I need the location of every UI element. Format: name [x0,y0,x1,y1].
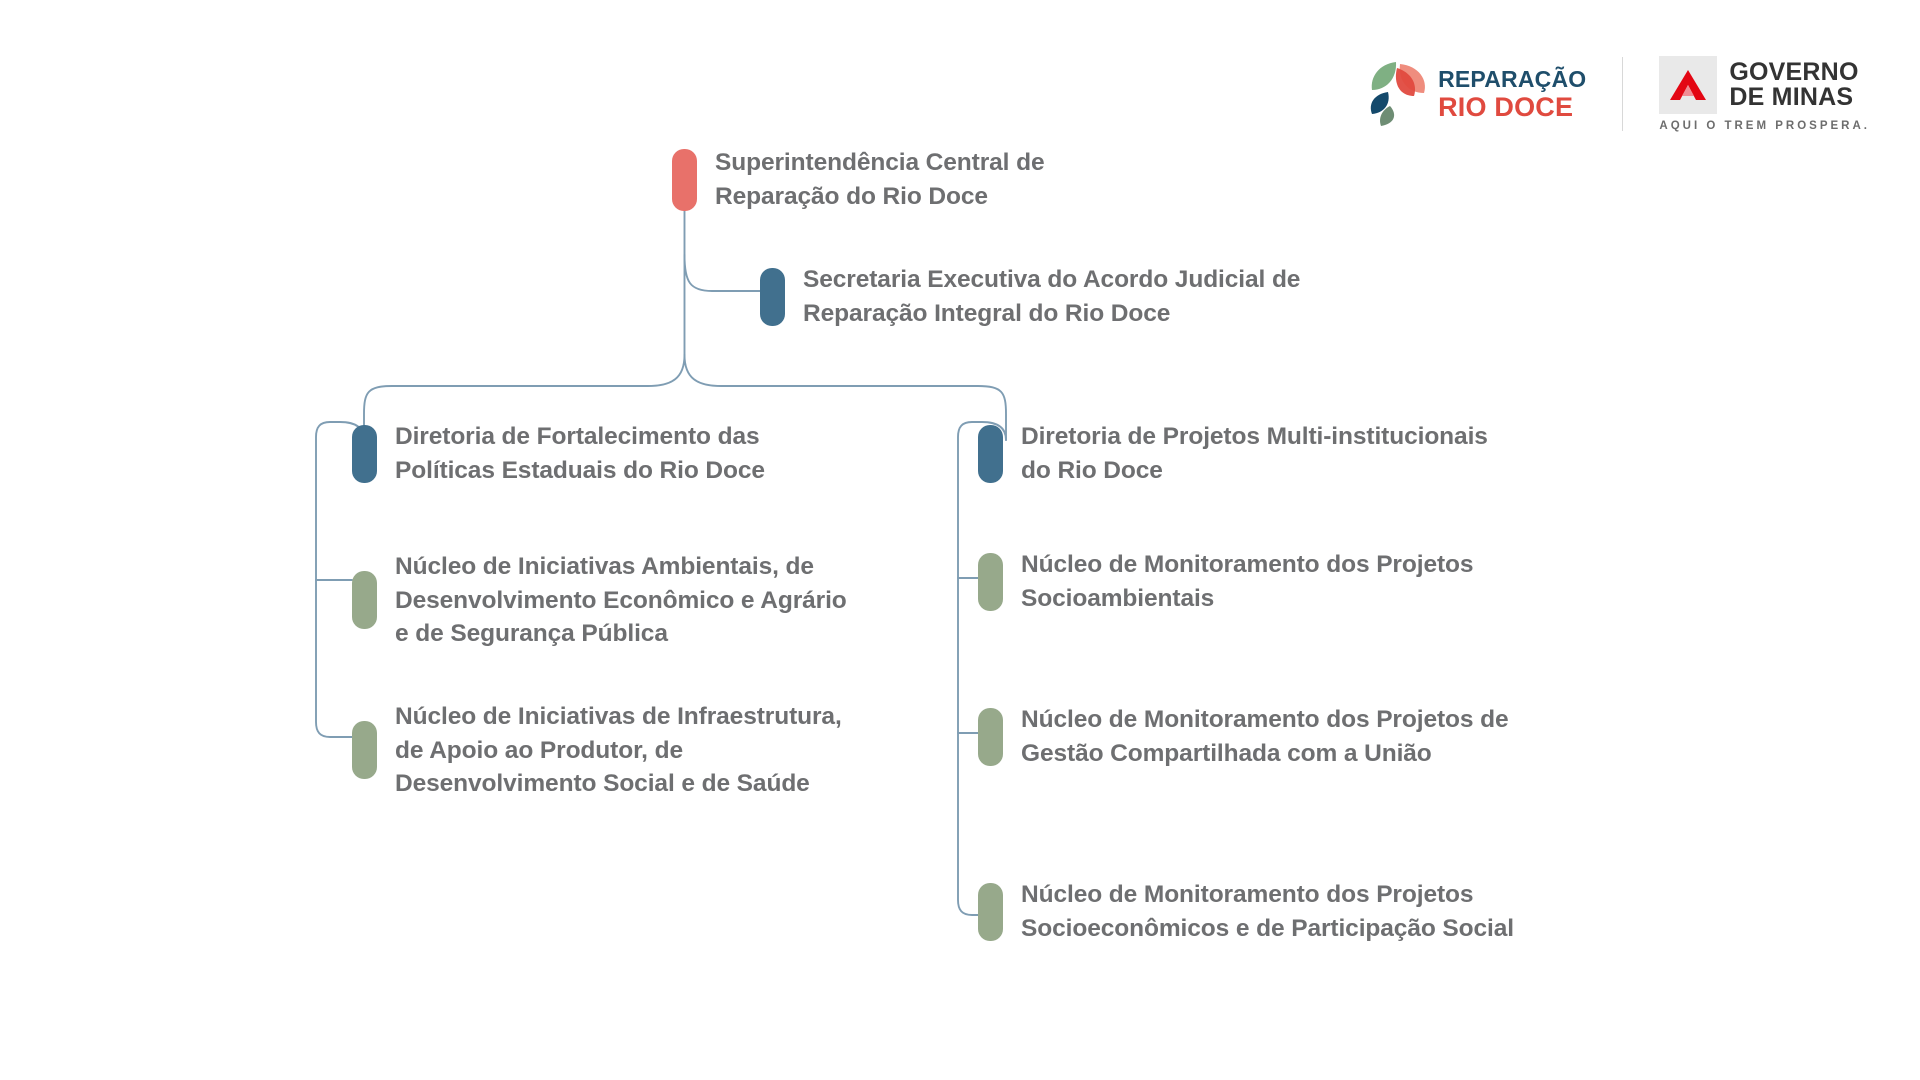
node-nucleo-iniciativas-ambientais[interactable]: Núcleo de Iniciativas Ambientais, de Des… [352,550,847,651]
node-bar-nucleo-r2 [978,708,1003,766]
node-superintendencia[interactable]: Superintendência Central de Reparação do… [672,146,1045,213]
governo-wordmark: GOVERNO DE MINAS [1729,60,1858,111]
logo-reparacao-rio-doce: REPARAÇÃO RIO DOCE [1366,58,1586,130]
reparacao-wordmark-line1: REPARAÇÃO [1438,68,1586,91]
node-label-nucleo-iniciativas-infraestrutura: Núcleo de Iniciativas de Infraestrutura,… [395,700,842,801]
organogram-canvas: Superintendência Central de Reparação do… [0,0,1920,1080]
node-label-nucleo-iniciativas-ambientais: Núcleo de Iniciativas Ambientais, de Des… [395,550,847,651]
node-bar-secretaria [760,268,785,326]
node-bar-diretoria-right [978,425,1003,483]
connector-root-to-secretaria [685,255,761,291]
governo-main-row: GOVERNO DE MINAS [1659,56,1858,114]
node-label-diretoria-fortalecimento: Diretoria de Fortalecimento das Política… [395,420,765,487]
logo-governo-de-minas: GOVERNO DE MINAS AQUI O TREM PROSPERA. [1659,56,1870,132]
node-bar-nucleo-l2 [352,721,377,779]
node-bar-diretoria-left [352,425,377,483]
node-label-diretoria-projetos-multi: Diretoria de Projetos Multi-instituciona… [1021,420,1488,487]
node-bar-root [672,149,697,211]
governo-mark-box [1659,56,1717,114]
governo-de-minas-triangle-icon [1668,68,1708,102]
logo-strip: REPARAÇÃO RIO DOCE GOVERNO DE MINAS AQUI… [1366,56,1870,132]
node-label-secretaria-executiva: Secretaria Executiva do Acordo Judicial … [803,263,1300,330]
node-bar-nucleo-l1 [352,571,377,629]
node-nucleo-monitoramento-socioambientais[interactable]: Núcleo de Monitoramento dos Projetos Soc… [978,548,1473,615]
governo-wordmark-line2: DE MINAS [1729,85,1858,111]
governo-wordmark-line1: GOVERNO [1729,60,1858,86]
node-nucleo-monitoramento-gestao-compartilhada[interactable]: Núcleo de Monitoramento dos Projetos de … [978,703,1509,770]
logo-divider [1622,57,1623,131]
node-label-nucleo-monitoramento-socioambientais: Núcleo de Monitoramento dos Projetos Soc… [1021,548,1473,615]
node-label-superintendencia: Superintendência Central de Reparação do… [715,146,1045,213]
node-nucleo-iniciativas-infraestrutura[interactable]: Núcleo de Iniciativas de Infraestrutura,… [352,700,842,801]
node-bar-nucleo-r3 [978,883,1003,941]
reparacao-wordmark: REPARAÇÃO RIO DOCE [1438,68,1586,121]
node-diretoria-projetos-multi[interactable]: Diretoria de Projetos Multi-instituciona… [978,420,1488,487]
governo-tagline: AQUI O TREM PROSPERA. [1659,120,1870,132]
node-secretaria-executiva[interactable]: Secretaria Executiva do Acordo Judicial … [760,263,1300,330]
node-bar-nucleo-r1 [978,553,1003,611]
node-diretoria-fortalecimento[interactable]: Diretoria de Fortalecimento das Política… [352,420,765,487]
node-label-nucleo-monitoramento-gestao-compartilhada: Núcleo de Monitoramento dos Projetos de … [1021,703,1509,770]
reparacao-wordmark-line2: RIO DOCE [1438,94,1586,121]
reparacao-rio-doce-petals-icon [1366,58,1430,130]
node-label-nucleo-monitoramento-socioeconomicos: Núcleo de Monitoramento dos Projetos Soc… [1021,878,1514,945]
node-nucleo-monitoramento-socioeconomicos[interactable]: Núcleo de Monitoramento dos Projetos Soc… [978,878,1514,945]
connector-right-dir-elbow [958,422,1006,915]
